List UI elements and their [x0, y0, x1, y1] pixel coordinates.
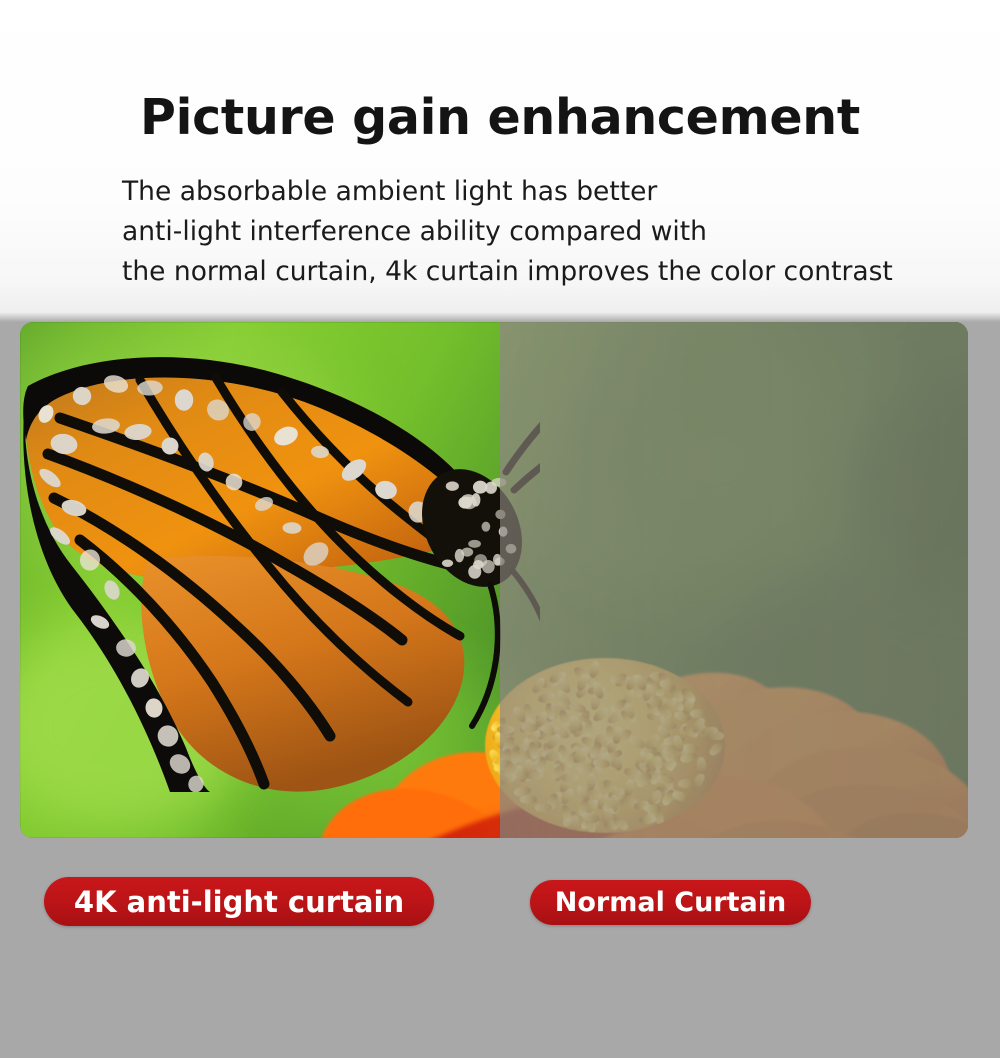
comparison-half-right — [500, 322, 968, 838]
comparison-half-left — [20, 322, 500, 838]
comparison-image — [20, 322, 968, 838]
description-line-1: The absorbable ambient light has better — [122, 172, 982, 212]
page-title: Picture gain enhancement — [0, 92, 1000, 145]
description-line-3: the normal curtain, 4k curtain improves … — [122, 252, 982, 292]
description-block: The absorbable ambient light has better … — [122, 172, 982, 292]
page-root: Picture gain enhancement The absorbable … — [0, 0, 1000, 1058]
description-line-2: anti-light interference ability compared… — [122, 212, 982, 252]
photo-scene-vivid — [20, 322, 500, 838]
label-4k-anti-light-curtain[interactable]: 4K anti-light curtain — [44, 877, 434, 926]
monarch-butterfly — [20, 322, 500, 792]
label-normal-curtain[interactable]: Normal Curtain — [530, 880, 811, 925]
ambient-light-wash — [500, 322, 968, 838]
